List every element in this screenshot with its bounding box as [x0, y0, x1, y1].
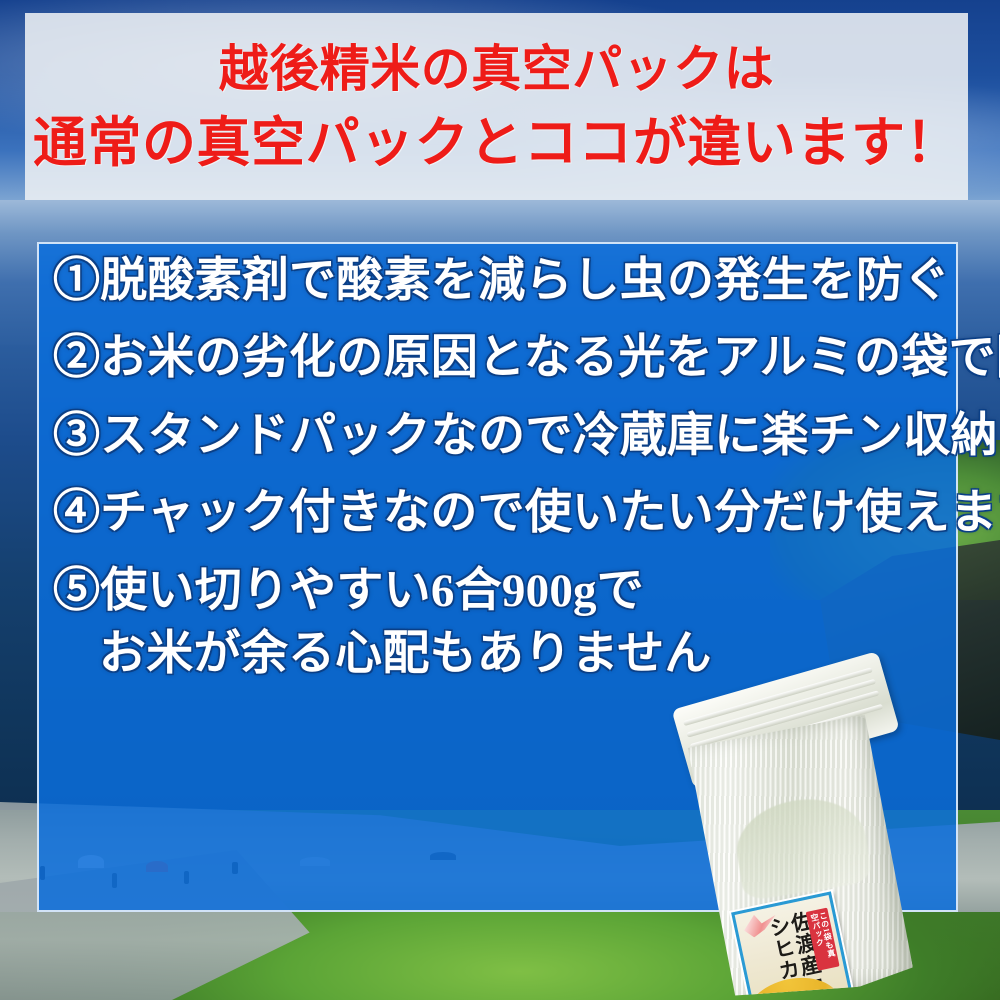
feature-item-5: ⑤使い切りやすい6合900gで — [53, 568, 956, 615]
package-label: 佐渡産コシヒカリ この1袋も真空パック — [731, 891, 855, 1000]
headline-line-2: 通常の真空パックとココが違います！ — [33, 116, 960, 170]
feature-item-4: ④チャック付きなので使いたい分だけ使えます — [53, 490, 956, 537]
poster-canvas: 越後精米の真空パックは 通常の真空パックとココが違います！ ①脱酸素剤で酸素を減… — [0, 0, 1000, 1000]
feature-item-1: ①脱酸素剤で酸素を減らし虫の発生を防ぐ — [53, 258, 956, 305]
feature-item-2: ②お米の劣化の原因となる光をアルミの袋で防ぐ — [53, 335, 956, 382]
package-body: 佐渡産コシヒカリ この1袋も真空パック — [675, 713, 914, 1000]
headline-banner: 越後精米の真空パックは 通常の真空パックとココが違います！ — [25, 13, 968, 200]
feature-item-3: ③スタンドパックなので冷蔵庫に楽チン収納 — [53, 413, 956, 460]
rice-package-photo: 佐渡産コシヒカリ この1袋も真空パック — [648, 648, 969, 1000]
headline-line-1: 越後精米の真空パックは — [219, 44, 775, 94]
package-gusset — [730, 790, 873, 901]
